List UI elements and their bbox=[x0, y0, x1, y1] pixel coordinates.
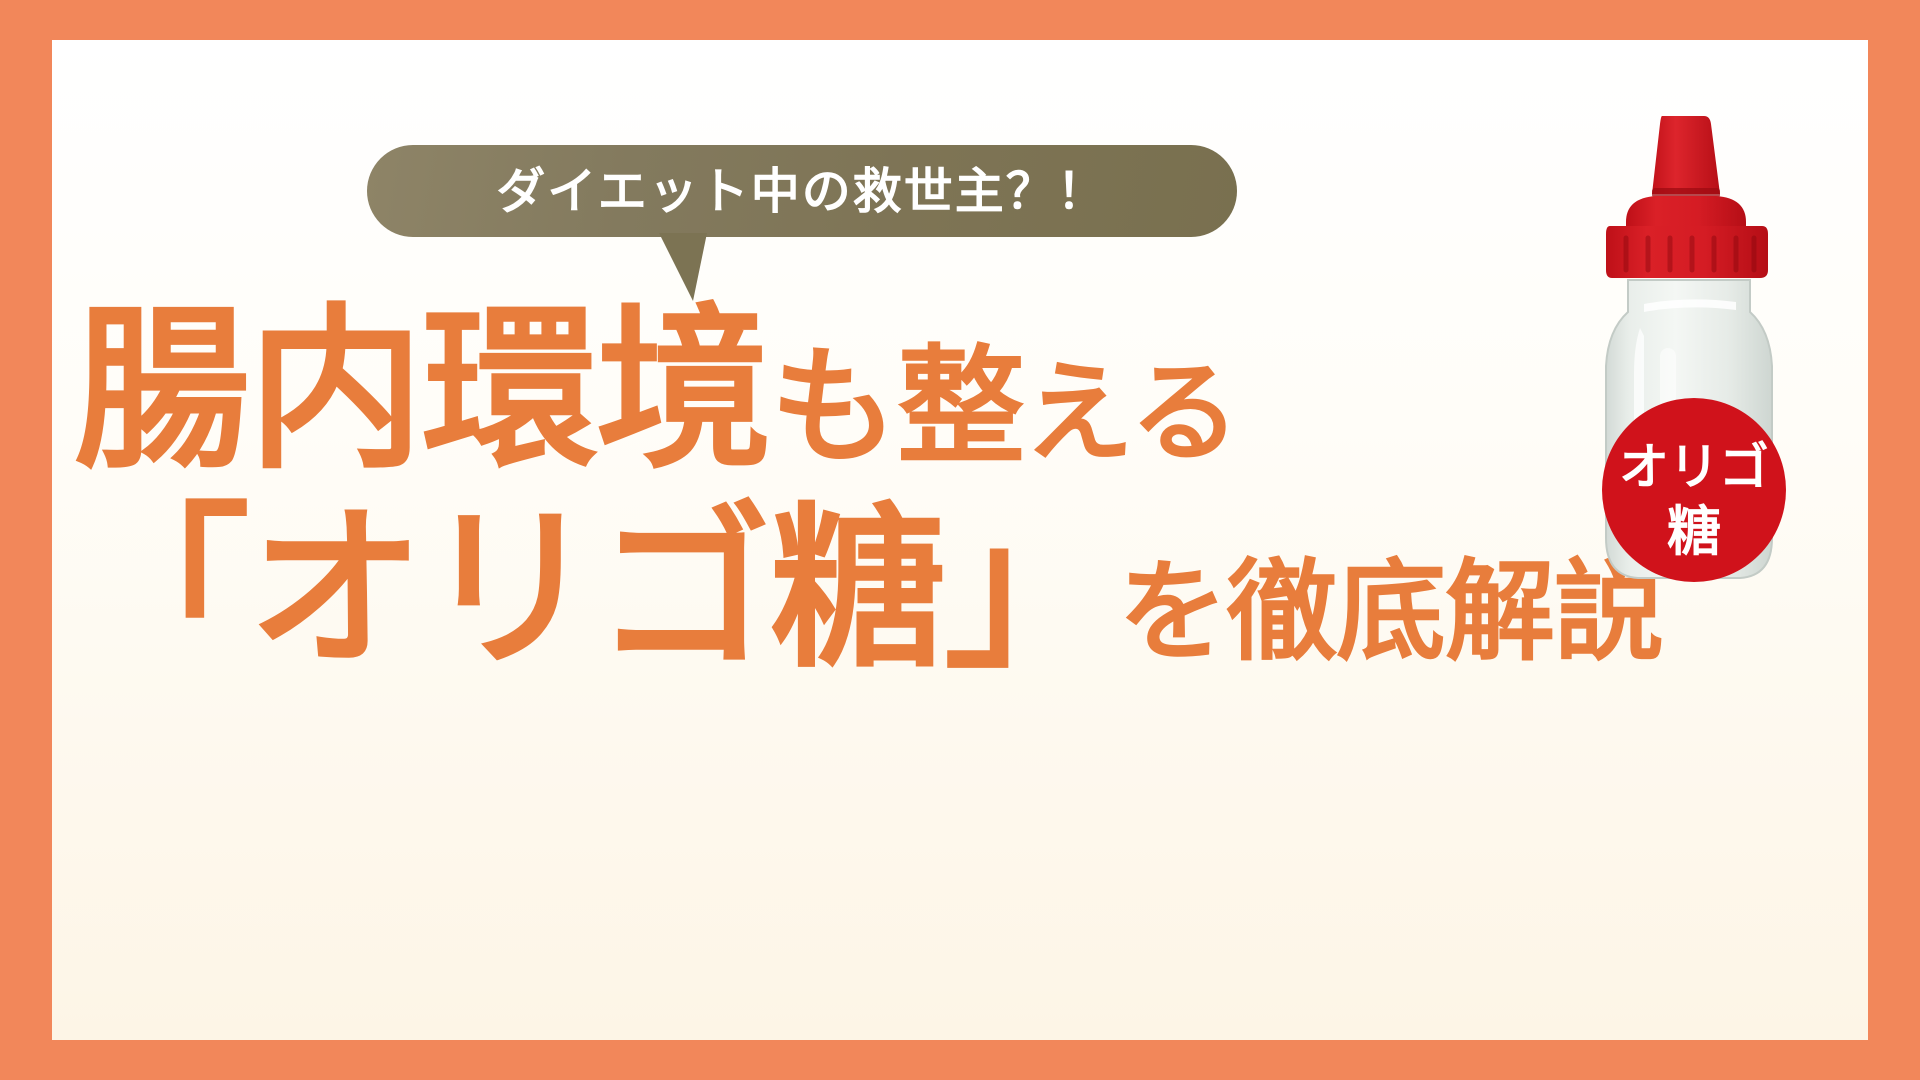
headline-line1-tertiary: える bbox=[1024, 355, 1239, 472]
speech-bubble-body: ダイエット中の救世主？！ bbox=[367, 145, 1237, 237]
speech-bubble-text: ダイエット中の救世主？！ bbox=[496, 167, 1108, 216]
bottle-label-line1: オリゴ bbox=[1619, 438, 1769, 496]
oligosaccharide-bottle-icon: オリゴ 糖 bbox=[1564, 98, 1824, 598]
content-card: ダイエット中の救世主？！ 腸内環境 も整 える 「オリゴ糖」 を徹底解説 bbox=[52, 40, 1868, 1040]
speech-bubble: ダイエット中の救世主？！ bbox=[367, 145, 1237, 237]
bottle-cap-shoulder bbox=[1626, 196, 1746, 228]
eyecatch-banner: ダイエット中の救世主？！ 腸内環境 も整 える 「オリゴ糖」 を徹底解説 bbox=[0, 0, 1920, 1080]
bottle-nozzle bbox=[1652, 116, 1720, 194]
bottle-label-line2: 糖 bbox=[1667, 500, 1721, 563]
headline-line2-primary: 「オリゴ糖」 bbox=[74, 497, 1118, 684]
bottle-cap bbox=[1606, 226, 1768, 278]
headline-line-2: 「オリゴ糖」 を徹底解説 bbox=[74, 497, 1412, 684]
headline-line1-primary: 腸内環境 bbox=[74, 298, 770, 485]
headline-line-1: 腸内環境 も整 える bbox=[74, 298, 1412, 485]
headline-line1-secondary: も整 bbox=[770, 340, 1024, 476]
page-title: 腸内環境 も整 える 「オリゴ糖」 を徹底解説 bbox=[52, 298, 1412, 683]
